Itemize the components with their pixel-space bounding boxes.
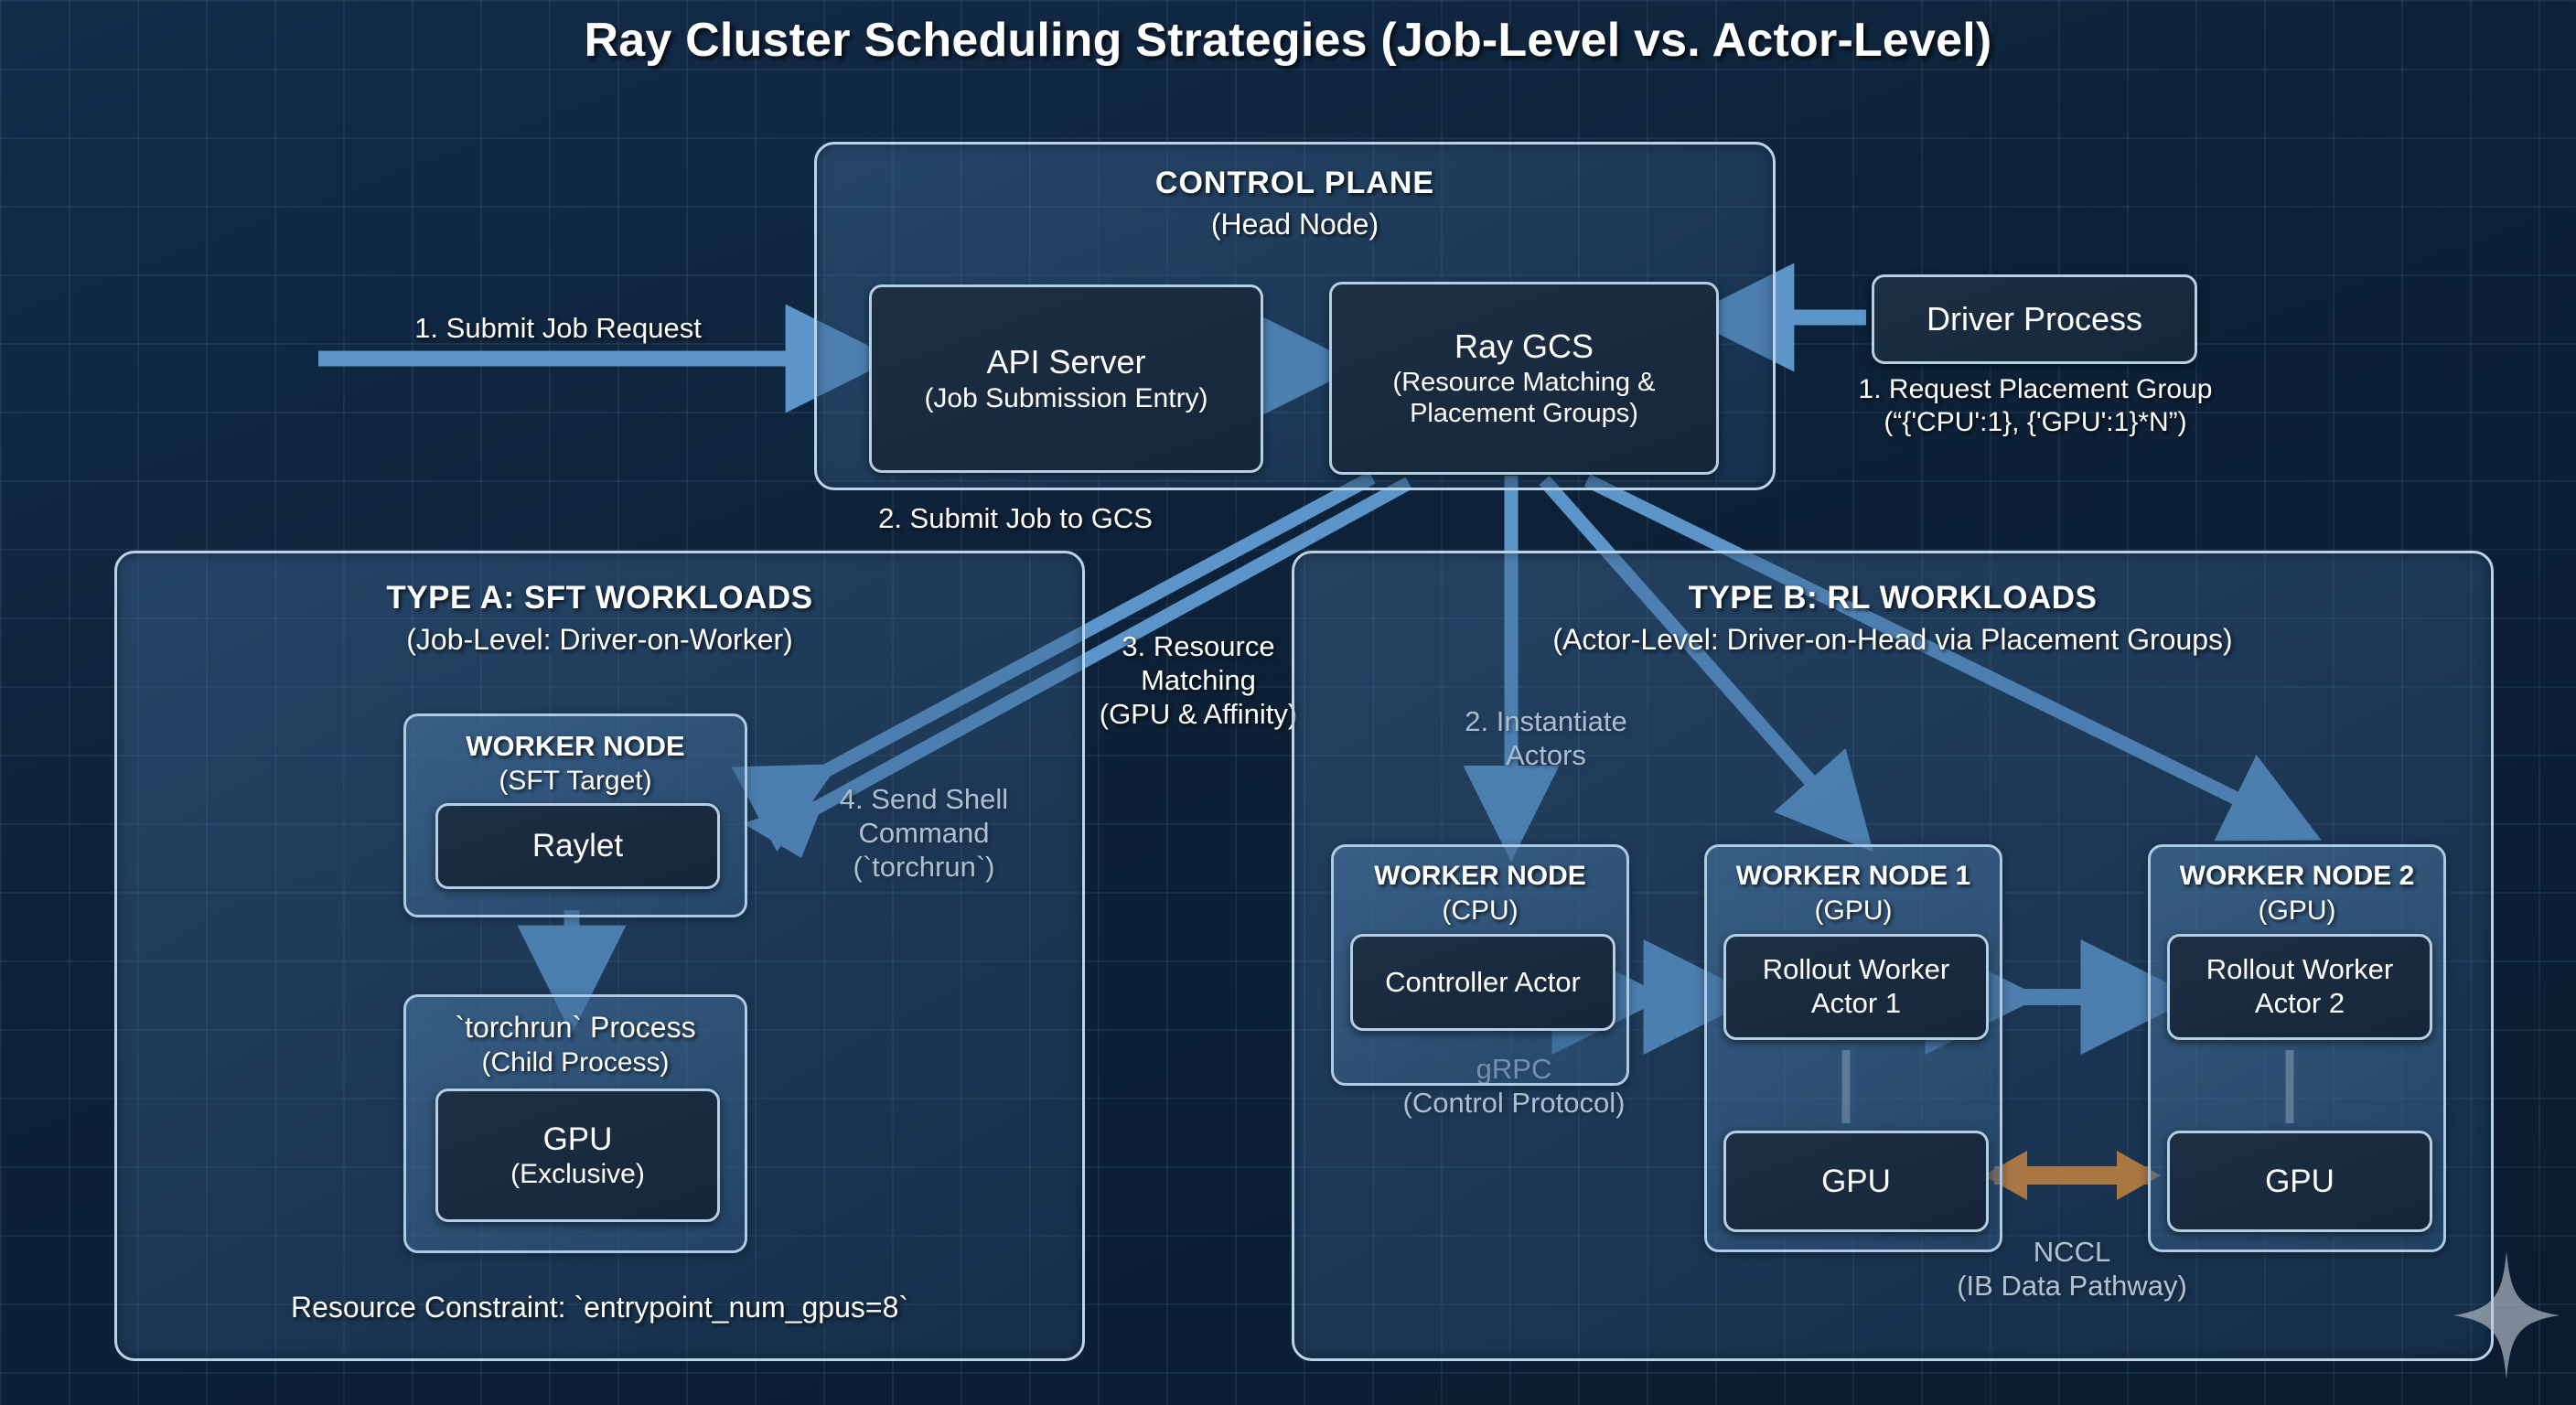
type-a-gpu-sub: (Exclusive) (510, 1158, 645, 1190)
worker-2-gpu-label: GPU (2265, 1163, 2334, 1200)
type-b-worker-node-1[interactable]: WORKER NODE 1 (GPU) Rollout Worker Actor… (1704, 844, 2002, 1252)
label-submit-job-request: 1. Submit Job Request (320, 311, 796, 345)
worker-node-2-title: WORKER NODE 2 (2151, 860, 2443, 893)
driver-process-label: Driver Process (1927, 300, 2142, 338)
type-a-worker-node-sub: (SFT Target) (406, 765, 745, 798)
ray-gcs-box[interactable]: Ray GCS (Resource Matching & Placement G… (1329, 282, 1719, 475)
worker-2-gpu-box[interactable]: GPU (2167, 1131, 2432, 1232)
type-a-gpu-label: GPU (543, 1121, 613, 1158)
worker-1-gpu-label: GPU (1821, 1163, 1891, 1200)
type-a-subheader: (Job-Level: Driver-on-Worker) (117, 622, 1082, 657)
label-submit-job-to-gcs: 2. Submit Job to GCS (823, 501, 1207, 535)
rollout-worker-actor-1-box[interactable]: Rollout Worker Actor 1 (1723, 934, 1989, 1040)
rollout-worker-2-line1: Rollout Worker (2206, 953, 2393, 987)
worker-1-gpu-box[interactable]: GPU (1723, 1131, 1989, 1232)
type-a-gpu-box[interactable]: GPU (Exclusive) (435, 1089, 720, 1222)
control-plane-panel: CONTROL PLANE (Head Node) API Server (Jo… (814, 142, 1776, 490)
api-server-title: API Server (986, 343, 1145, 381)
torchrun-process-node[interactable]: `torchrun` Process (Child Process) GPU (… (403, 994, 747, 1253)
type-b-worker-node-2[interactable]: WORKER NODE 2 (GPU) Rollout Worker Actor… (2148, 844, 2446, 1252)
ray-gcs-subtitle-2: Placement Groups) (1410, 398, 1638, 429)
raylet-box[interactable]: Raylet (435, 803, 720, 889)
type-b-subheader: (Actor-Level: Driver-on-Head via Placeme… (1294, 622, 2491, 657)
worker-node-1-sub: (GPU) (1707, 895, 2000, 928)
type-a-worker-node[interactable]: WORKER NODE (SFT Target) Raylet (403, 713, 747, 917)
sparkle-icon (2452, 1251, 2561, 1379)
rollout-worker-2-line2: Actor 2 (2255, 987, 2345, 1021)
rollout-worker-1-line1: Rollout Worker (1763, 953, 1949, 987)
driver-request-caption: 1. Request Placement Group (“{'CPU':1}, … (1788, 373, 2282, 439)
type-b-panel: TYPE B: RL WORKLOADS (Actor-Level: Drive… (1292, 551, 2494, 1361)
worker-node-1-title: WORKER NODE 1 (1707, 860, 2000, 893)
type-a-footer: Resource Constraint: `entrypoint_num_gpu… (117, 1290, 1082, 1325)
api-server-box[interactable]: API Server (Job Submission Entry) (869, 284, 1263, 473)
raylet-label: Raylet (532, 827, 623, 864)
type-a-worker-node-title: WORKER NODE (406, 729, 745, 763)
worker-node-cpu-title: WORKER NODE (1334, 860, 1626, 893)
control-plane-header: CONTROL PLANE (817, 165, 1773, 202)
driver-process-box[interactable]: Driver Process (1872, 274, 2197, 364)
controller-actor-label: Controller Actor (1385, 966, 1581, 1000)
ray-gcs-title: Ray GCS (1454, 327, 1594, 366)
rollout-worker-1-line2: Actor 1 (1811, 987, 1901, 1021)
type-b-header: TYPE B: RL WORKLOADS (1294, 579, 2491, 617)
type-a-panel: TYPE A: SFT WORKLOADS (Job-Level: Driver… (114, 551, 1085, 1361)
torchrun-subtitle: (Child Process) (406, 1046, 745, 1079)
page-title: Ray Cluster Scheduling Strategies (Job-L… (0, 13, 2576, 68)
ray-gcs-subtitle-1: (Resource Matching & (1393, 367, 1656, 398)
driver-request-line2: (“{'CPU':1}, {'GPU':1}*N”) (1788, 406, 2282, 439)
api-server-subtitle: (Job Submission Entry) (924, 382, 1207, 414)
controller-actor-box[interactable]: Controller Actor (1350, 934, 1615, 1031)
type-b-worker-node-cpu[interactable]: WORKER NODE (CPU) Controller Actor (1331, 844, 1629, 1086)
worker-node-2-sub: (GPU) (2151, 895, 2443, 928)
rollout-worker-actor-2-box[interactable]: Rollout Worker Actor 2 (2167, 934, 2432, 1040)
type-a-header: TYPE A: SFT WORKLOADS (117, 579, 1082, 617)
driver-request-line1: 1. Request Placement Group (1788, 373, 2282, 406)
control-plane-subheader: (Head Node) (817, 207, 1773, 241)
torchrun-title: `torchrun` Process (406, 1010, 745, 1045)
worker-node-cpu-sub: (CPU) (1334, 895, 1626, 928)
